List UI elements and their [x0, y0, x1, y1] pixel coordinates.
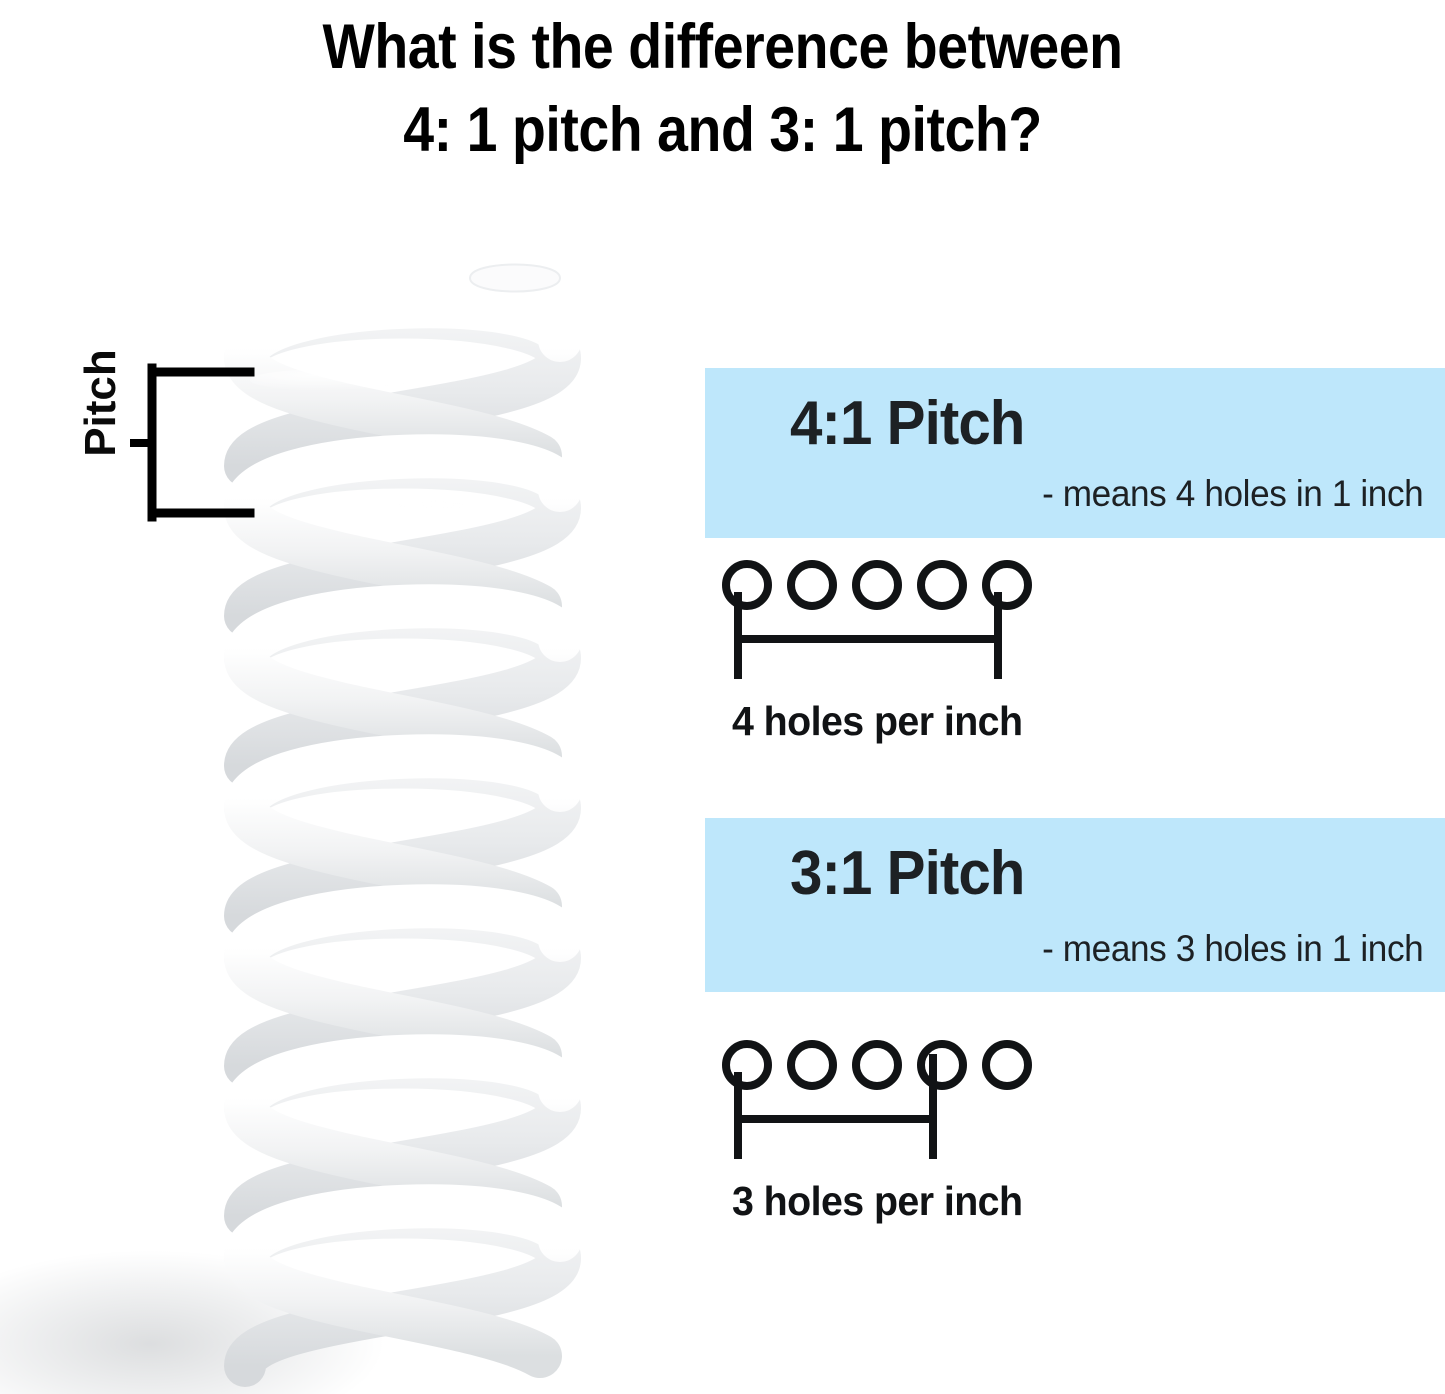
hole-circle	[986, 564, 1028, 606]
hole-circle	[921, 564, 963, 606]
hole-circle	[921, 1044, 963, 1086]
hole-diagram-4-1-svg	[716, 552, 1056, 702]
panel-3-1-pitch: 3:1 Pitch - means 3 holes in 1 inch	[705, 818, 1445, 992]
hole-circle	[791, 1044, 833, 1086]
heading-4-1-pitch: 4:1 Pitch	[790, 388, 1024, 459]
pitch-label: Pitch	[76, 338, 126, 468]
hole-diagram-4-1: 4 holes per inch	[716, 552, 1056, 707]
hole-diagram-3-1-svg	[716, 1032, 1056, 1182]
subtext-4-1-pitch: - means 4 holes in 1 inch	[1042, 473, 1423, 515]
caption-3-holes-per-inch: 3 holes per inch	[732, 1178, 1022, 1225]
infographic-page: What is the difference between 4: 1 pitc…	[0, 0, 1445, 1394]
hole-circle	[986, 1044, 1028, 1086]
panel-4-1-pitch: 4:1 Pitch - means 4 holes in 1 inch	[705, 368, 1445, 538]
hole-circle	[791, 564, 833, 606]
caption-4-holes-per-inch: 4 holes per inch	[732, 698, 1022, 745]
page-title: What is the difference between 4: 1 pitc…	[87, 6, 1359, 172]
subtext-3-1-pitch: - means 3 holes in 1 inch	[1042, 928, 1423, 970]
hole-circle	[726, 564, 768, 606]
hole-circle	[726, 1044, 768, 1086]
heading-3-1-pitch: 3:1 Pitch	[790, 838, 1024, 909]
hole-circle	[856, 564, 898, 606]
hole-diagram-3-1: 3 holes per inch	[716, 1032, 1056, 1187]
hole-circle	[856, 1044, 898, 1086]
